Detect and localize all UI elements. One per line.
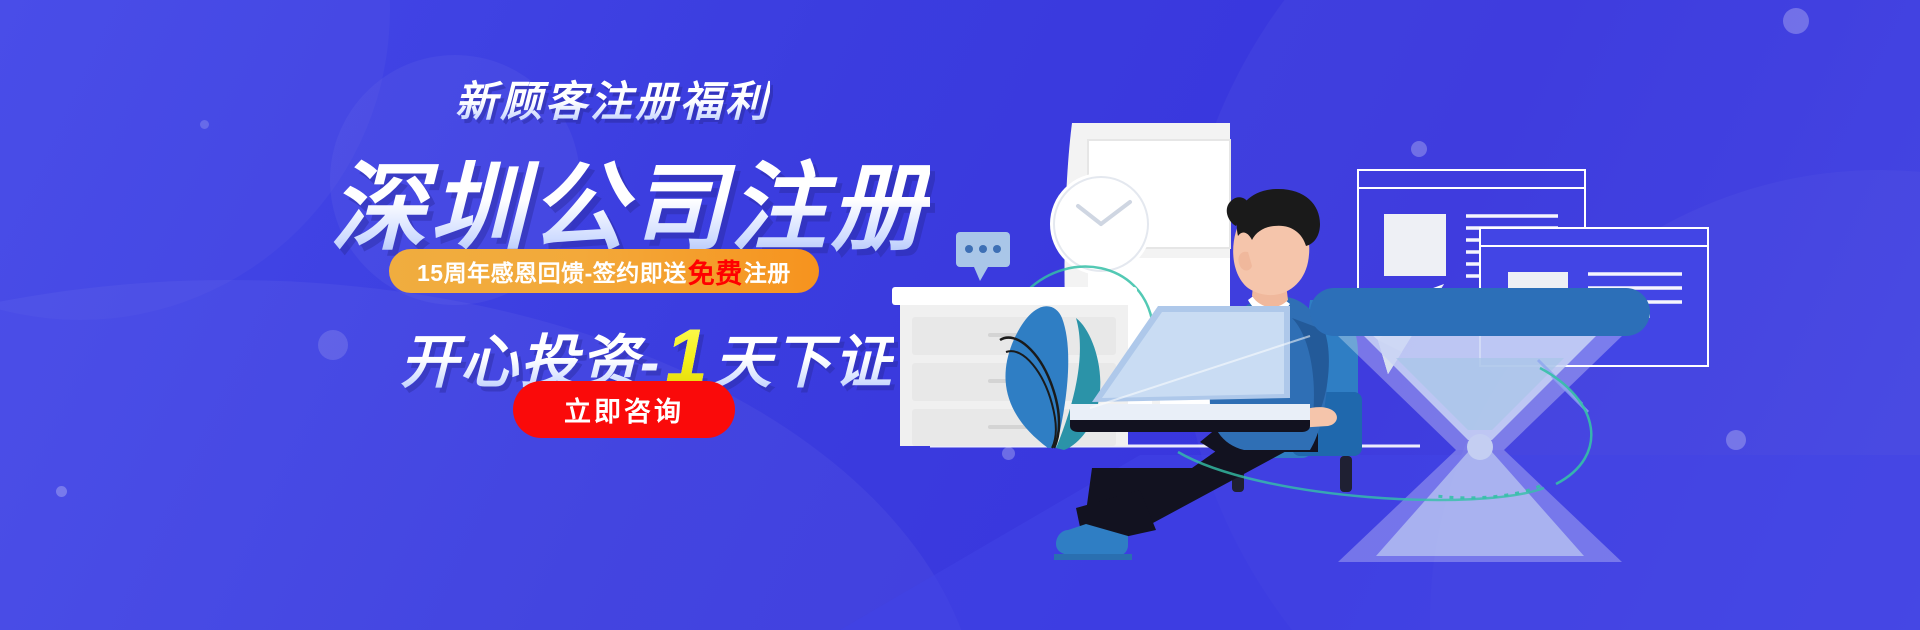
subline-suffix: 天下证 (714, 330, 894, 395)
promo-pill-prefix: 15周年感恩回馈-签约即送 (417, 254, 687, 288)
wall-clock-icon (1050, 173, 1152, 275)
chat-bubble-icon (956, 232, 1010, 281)
banner-copy: 新顾客注册福利 深圳公司注册 15周年感恩回馈-签约即送免费注册 开心投资-1天… (0, 0, 960, 630)
consult-now-button[interactable]: 立即咨询 (513, 381, 735, 438)
promo-pill-highlight: 免费 (687, 252, 744, 291)
promo-pill-suffix: 注册 (744, 254, 791, 288)
banner-kicker: 新顾客注册福利 (455, 68, 770, 129)
promo-pill: 15周年感恩回馈-签约即送免费注册 (389, 249, 819, 293)
promo-banner: 新顾客注册福利 深圳公司注册 15周年感恩回馈-签约即送免费注册 开心投资-1天… (0, 0, 1920, 630)
hero-illustration (840, 0, 1920, 630)
